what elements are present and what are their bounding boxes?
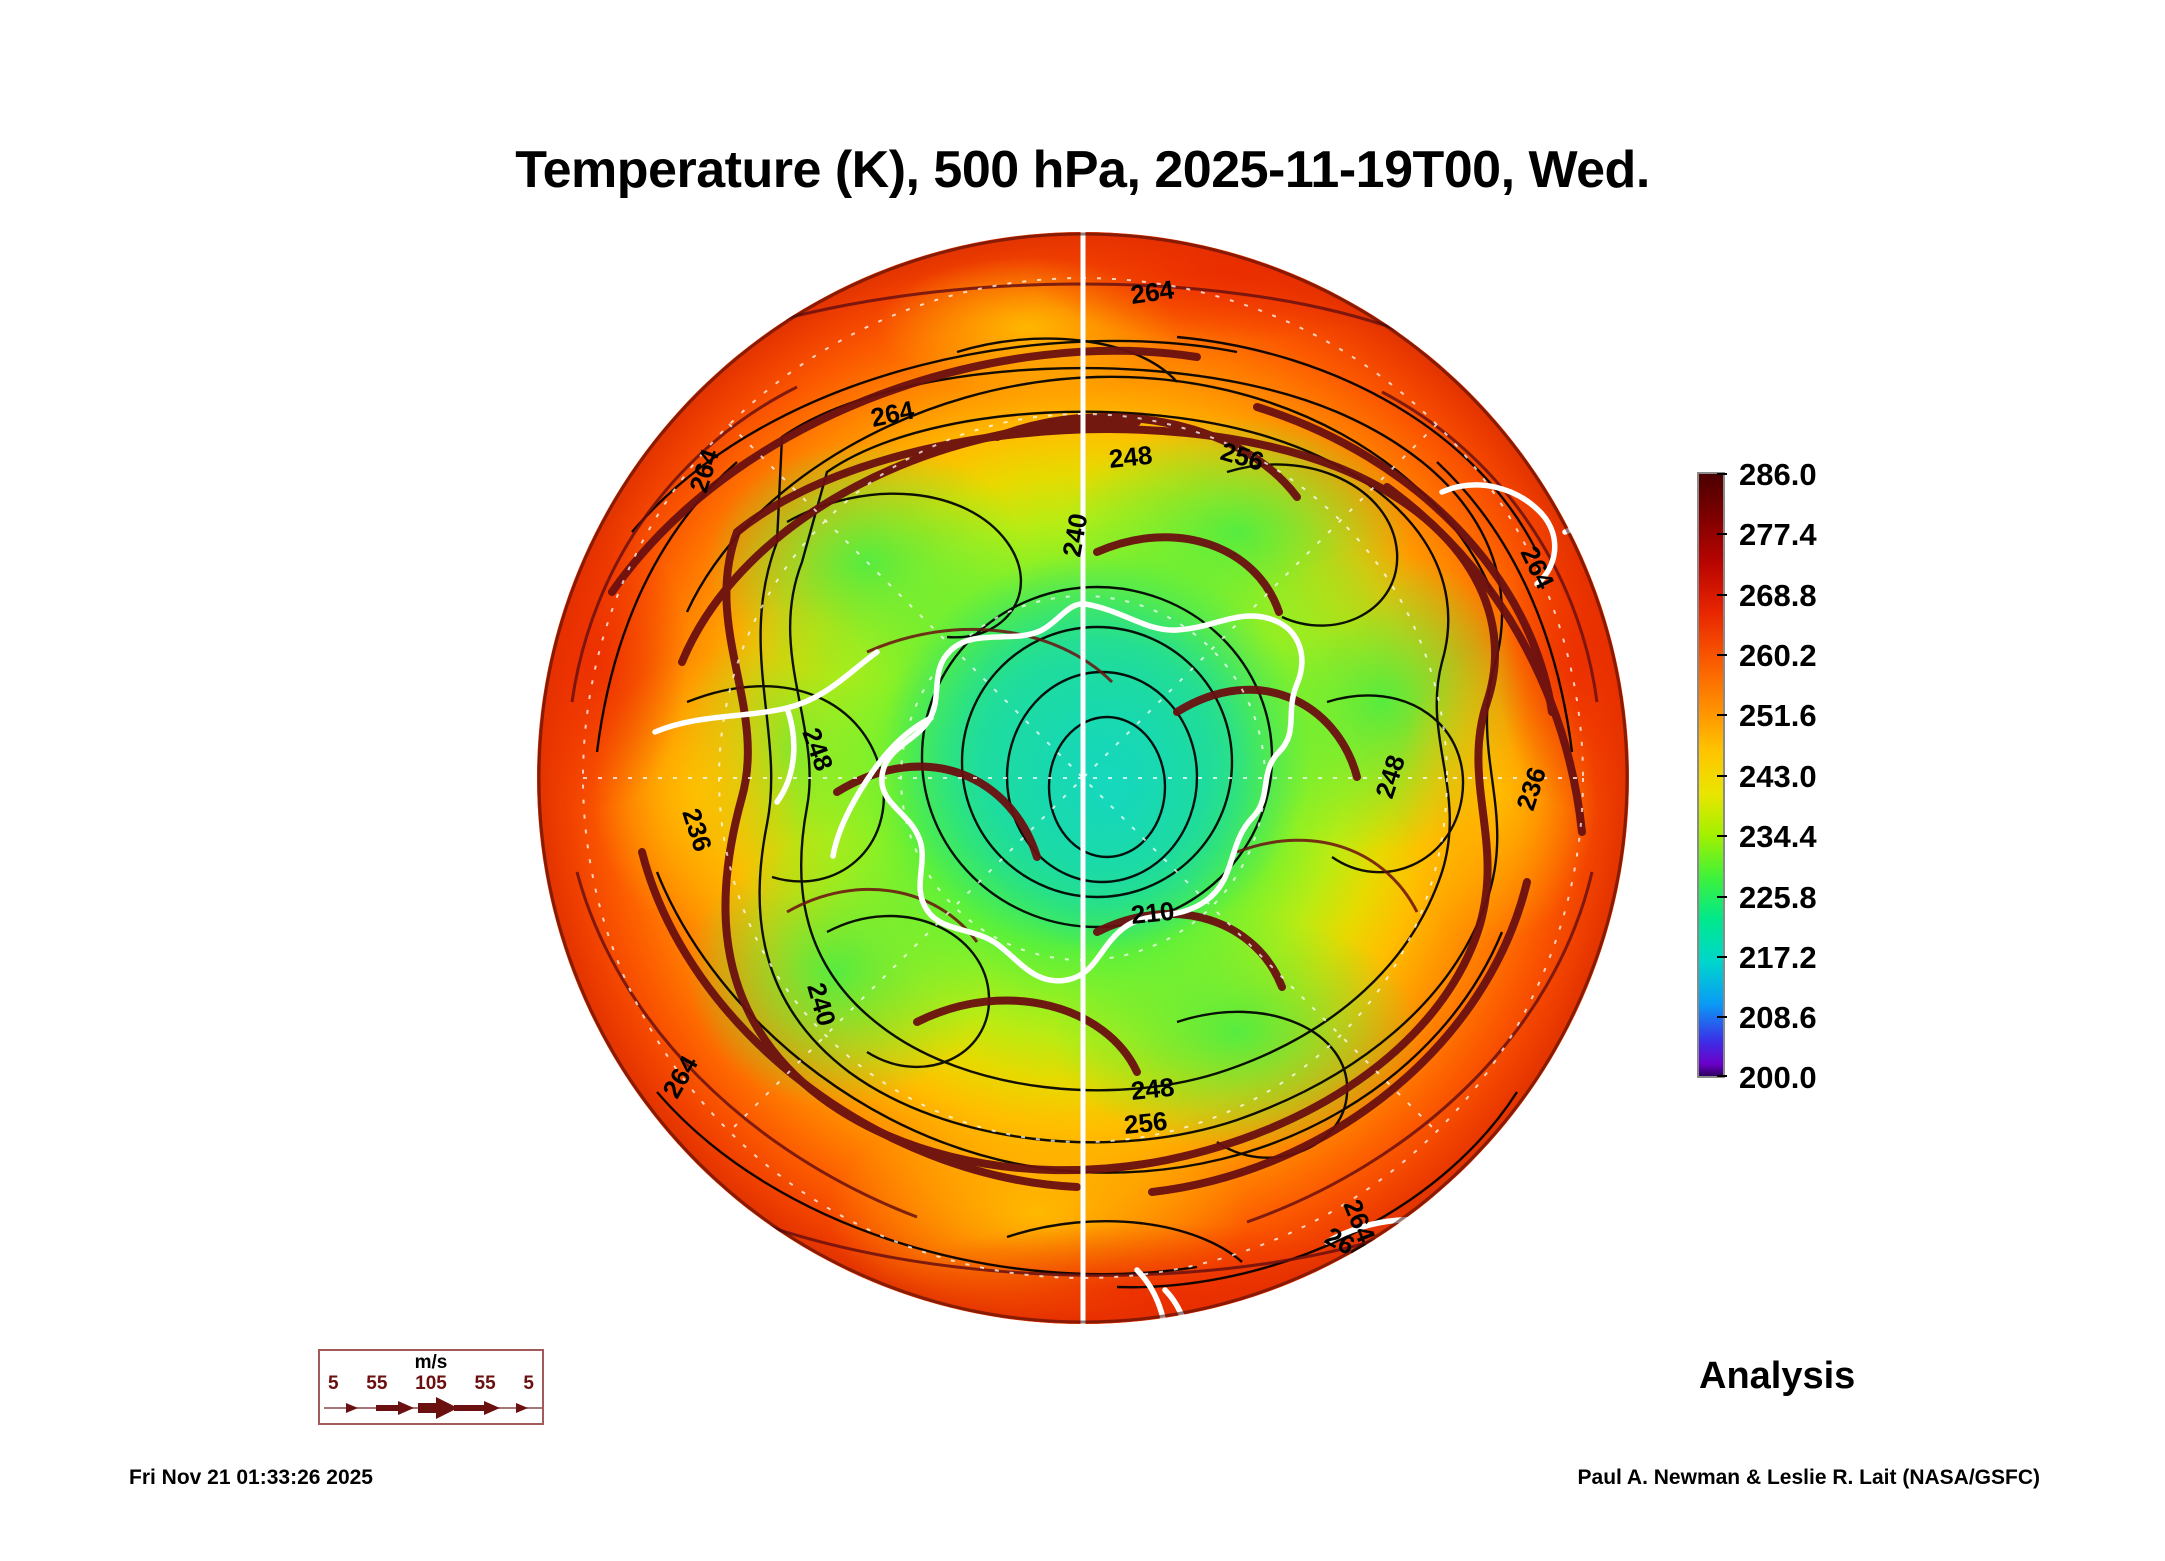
colorbar-label: 234.4: [1739, 821, 1817, 852]
colorbar-tick: [1717, 533, 1727, 535]
colorbar-tick: [1717, 1016, 1727, 1018]
colorbar-tick: [1717, 775, 1727, 777]
author-credit: Paul A. Newman & Leslie R. Lait (NASA/GS…: [1578, 1466, 2040, 1490]
colorbar-tick: [1717, 594, 1727, 596]
wind-tick-value: 105: [415, 1373, 447, 1395]
map-disc: 264 264 264 248 256 240 264 248 236 248 …: [537, 232, 1629, 1324]
wind-arrow-scale-icon: [324, 1395, 542, 1421]
colorbar-label: 277.4: [1739, 519, 1817, 550]
svg-text:248: 248: [1129, 1072, 1175, 1106]
svg-text:248: 248: [1107, 440, 1153, 474]
colorbar-label: 286.0: [1739, 459, 1817, 490]
wind-tick-value: 55: [366, 1373, 387, 1395]
colorbar-tick: [1717, 473, 1727, 475]
colorbar-label: 200.0: [1739, 1062, 1817, 1093]
colorbar-tick: [1717, 714, 1727, 716]
colorbar-label: 260.2: [1739, 640, 1817, 671]
colorbar-label: 243.0: [1739, 761, 1817, 792]
wind-tick-value: 5: [523, 1373, 534, 1395]
polar-map[interactable]: 264 264 264 248 256 240 264 248 236 248 …: [537, 232, 1629, 1324]
wind-tick-labels: 5 55 105 55 5: [328, 1373, 534, 1395]
colorbar-label: 268.8: [1739, 580, 1817, 611]
wind-tick-value: 55: [475, 1373, 496, 1395]
colorbar-tick: [1717, 896, 1727, 898]
colorbar-label: 225.8: [1739, 882, 1817, 913]
svg-text:256: 256: [1122, 1106, 1168, 1140]
colorbar-tick: [1717, 654, 1727, 656]
page-title: Temperature (K), 500 hPa, 2025-11-19T00,…: [0, 140, 2165, 200]
colorbar-label: 208.6: [1739, 1002, 1817, 1033]
wind-unit-label: m/s: [320, 1352, 542, 1374]
colorbar-label: 217.2: [1739, 942, 1817, 973]
generation-timestamp: Fri Nov 21 01:33:26 2025: [129, 1466, 373, 1490]
svg-text:264: 264: [1129, 274, 1177, 310]
colorbar-tick: [1717, 1075, 1727, 1077]
colorbar-tick: [1717, 956, 1727, 958]
wind-tick-value: 5: [328, 1373, 339, 1395]
wind-speed-legend: m/s 5 55 105 55 5: [318, 1349, 544, 1425]
colorbar-tick: [1717, 835, 1727, 837]
analysis-label: Analysis: [1699, 1355, 1855, 1398]
svg-text:210: 210: [1129, 896, 1175, 930]
colorbar-label: 251.6: [1739, 700, 1817, 731]
temperature-field: 264 264 264 248 256 240 264 248 236 248 …: [537, 232, 1629, 1324]
